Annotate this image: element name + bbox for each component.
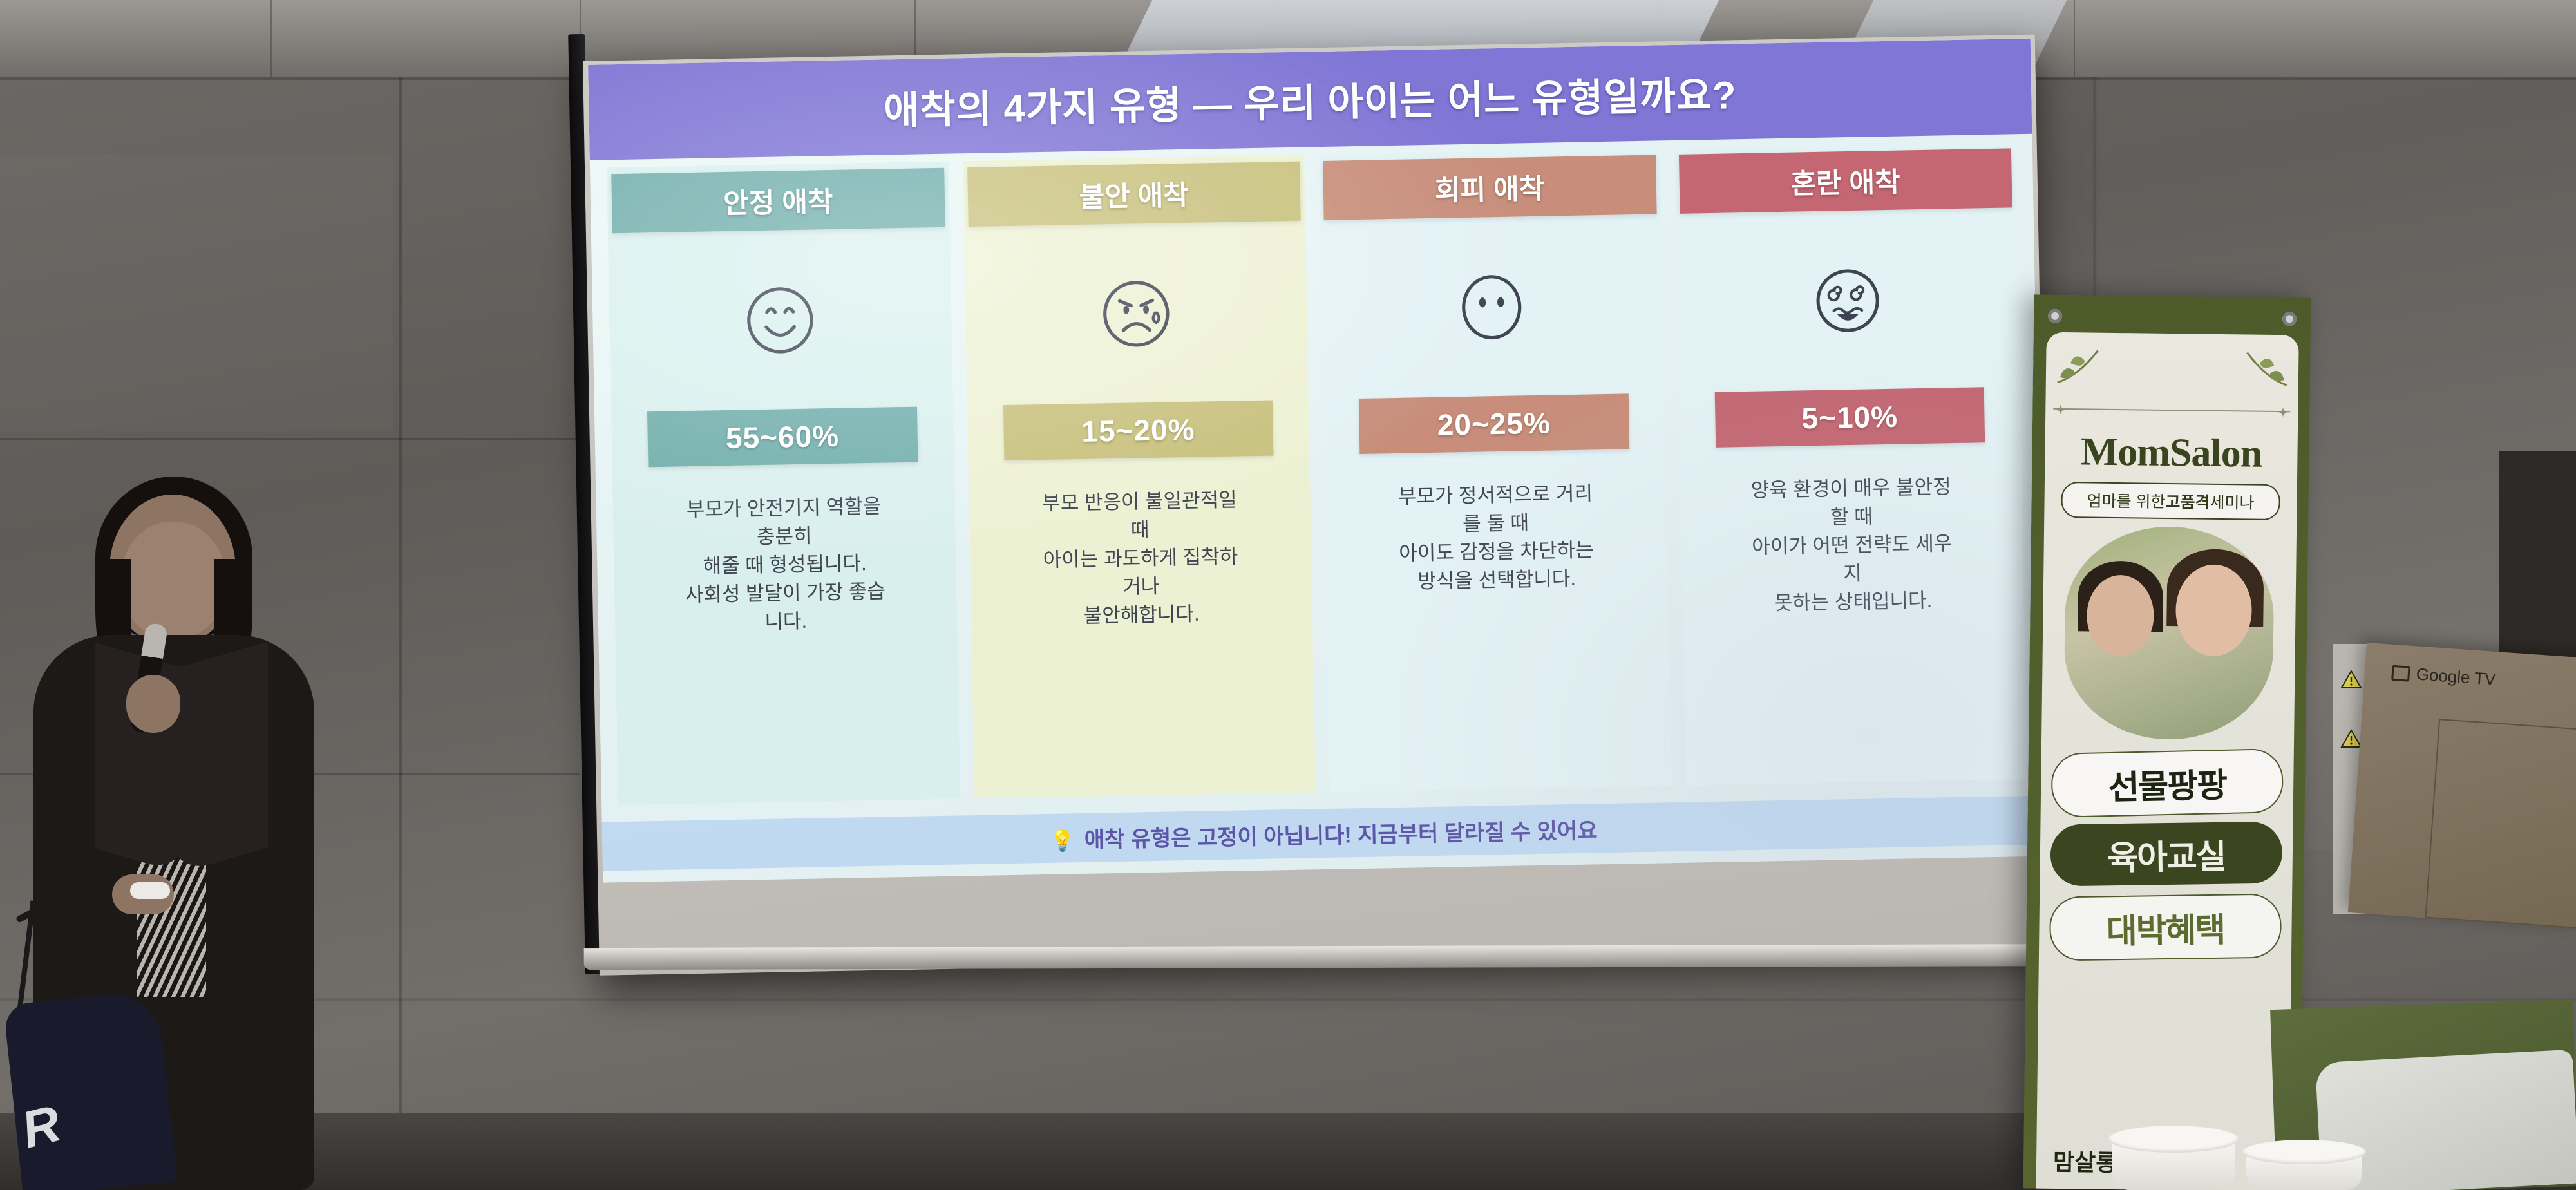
google-tv-label: Google TV <box>2416 664 2497 690</box>
coat-lapel-right <box>171 641 268 875</box>
percent-badge: 5~10% <box>1714 387 1985 448</box>
crying-worried-face-icon <box>1094 272 1178 355</box>
sparkle-icon: ✦ <box>2277 404 2289 421</box>
percent-badge: 15~20% <box>1003 400 1273 460</box>
leaf-icon <box>2242 348 2290 388</box>
column-title: 불안 애착 <box>1079 173 1189 215</box>
banner-brand: MomSalon <box>2045 429 2298 478</box>
lightbulb-icon: 💡 <box>1050 829 1075 853</box>
column-title: 혼란 애착 <box>1790 160 1900 202</box>
presenter: R <box>19 462 322 1190</box>
percent-badge: 20~25% <box>1359 393 1629 454</box>
page-title: 애착의 4가지 유형 — 우리 아이는 어느 유형일까요? <box>883 64 1737 135</box>
column-header: 안정 애착 <box>611 168 945 233</box>
column-description: 양육 환경이 매우 불안정 할 때 아이가 어떤 전략도 세우 지 못하는 상태… <box>1704 472 2000 619</box>
percent-value: 20~25% <box>1437 406 1551 442</box>
neutral-no-mouth-face-icon <box>1450 265 1533 349</box>
column-avoidant-attachment: 회피 애착 20~25% 부모가 정서적으로 거리 를 둘 때 아이도 감정을 … <box>1318 148 1672 792</box>
column-secure-attachment: 안정 애착 55~60% 부모가 안전기지 역할을 충분히 해줄 때 형성됩니다… <box>607 162 960 806</box>
divider <box>2053 408 2290 412</box>
column-description: 부모가 정서적으로 거리 를 둘 때 아이도 감정을 차단하는 방식을 선택합니… <box>1348 478 1644 597</box>
banner-bottom-text: 맘살롱 <box>2053 1144 2117 1178</box>
column-header: 혼란 애착 <box>1678 148 2012 213</box>
warning-triangle-icon <box>2340 670 2362 689</box>
slide-title-bar: 애착의 4가지 유형 — 우리 아이는 어느 유형일까요? <box>588 39 2032 160</box>
footer-message: 애착 유형은 고정이 아닙니다! 지금부터 달라질 수 있어요 <box>1084 818 1597 853</box>
backpack-logo: R <box>16 1094 64 1160</box>
subtitle-suffix: 세미나 <box>2210 490 2254 514</box>
footer-text-wrap: 💡애착 유형은 고정이 아닙니다! 지금부터 달라질 수 있어요 <box>1049 813 1597 855</box>
column-description: 부모가 안전기지 역할을 충분히 해줄 때 형성됩니다. 사회성 발달이 가장 … <box>636 491 933 638</box>
banner-inner: ✦ ✦ MomSalon 엄마를 위한 고품격 세미나 선물팡팡 육아교실 대박… <box>2036 332 2299 1190</box>
face <box>121 522 225 639</box>
presentation-clicker <box>130 882 170 899</box>
column-disorganized-attachment: 혼란 애착 5~10% 양육 환경이 매우 불안정 할 때 아이가 <box>1674 142 2027 786</box>
hand-holding-microphone <box>126 675 180 733</box>
backpack: R <box>3 989 177 1190</box>
sparkle-icon: ✦ <box>2054 402 2067 419</box>
percent-value: 15~20% <box>1081 412 1195 449</box>
percent-value: 5~10% <box>1801 399 1898 436</box>
box-outline <box>2425 719 2576 929</box>
column-title: 안정 애착 <box>723 180 833 222</box>
paper-cup-lid <box>2108 1126 2239 1153</box>
percent-value: 55~60% <box>725 419 839 455</box>
column-description: 부모 반응이 불일관적일 때 아이는 과도하게 집착하 거나 불안해합니다. <box>992 485 1289 632</box>
screen-fabric: 애착의 4가지 유형 — 우리 아이는 어느 유형일까요? 안정 애착 <box>583 35 2052 976</box>
google-tv-box: Google TV <box>2348 643 2576 929</box>
banner-pill-parenting-class: 육아교실 <box>2050 821 2282 886</box>
column-title: 회피 애착 <box>1434 167 1544 209</box>
dark-object <box>2499 451 2576 683</box>
column-header: 회피 애착 <box>1323 155 1656 220</box>
banner-subtitle: 엄마를 위한 고품격 세미나 <box>2061 482 2280 520</box>
attachment-type-columns: 안정 애착 55~60% 부모가 안전기지 역할을 충분히 해줄 때 형성됩니다… <box>607 142 2027 805</box>
screen-roller-bar <box>584 944 2065 970</box>
momsalon-banner: ✦ ✦ MomSalon 엄마를 위한 고품격 세미나 선물팡팡 육아교실 대박… <box>2023 294 2311 1190</box>
slide-footer: 💡애착 유형은 고정이 아닙니다! 지금부터 달라질 수 있어요 <box>602 796 2045 871</box>
room-scene: 애착의 4가지 유형 — 우리 아이는 어느 유형일까요? 안정 애착 <box>0 0 2576 1190</box>
tv-screen-icon <box>2391 665 2410 681</box>
percent-badge: 55~60% <box>647 407 918 467</box>
slide: 애착의 4가지 유형 — 우리 아이는 어느 유형일까요? 안정 애착 <box>588 39 2045 883</box>
dizzy-spiral-eyes-face-icon <box>1806 259 1889 343</box>
banner-pill-gift: 선물팡팡 <box>2050 748 2284 818</box>
subtitle-prefix: 엄마를 위한 <box>2087 488 2165 512</box>
paper-cup-lid <box>2242 1140 2366 1164</box>
subtitle-bold: 고품격 <box>2165 489 2210 513</box>
google-tv-logo: Google TV <box>2391 663 2497 690</box>
banner-pill-benefit: 대박혜택 <box>2049 893 2282 961</box>
column-anxious-attachment: 불안 애착 15~20% <box>962 155 1316 799</box>
banner-photo <box>2063 525 2275 741</box>
smiling-face-icon <box>739 278 822 362</box>
projection-screen: 애착의 4가지 유형 — 우리 아이는 어느 유형일까요? 안정 애착 <box>583 34 2069 1046</box>
column-header: 불안 애착 <box>967 162 1301 227</box>
leaf-icon <box>2055 346 2103 386</box>
